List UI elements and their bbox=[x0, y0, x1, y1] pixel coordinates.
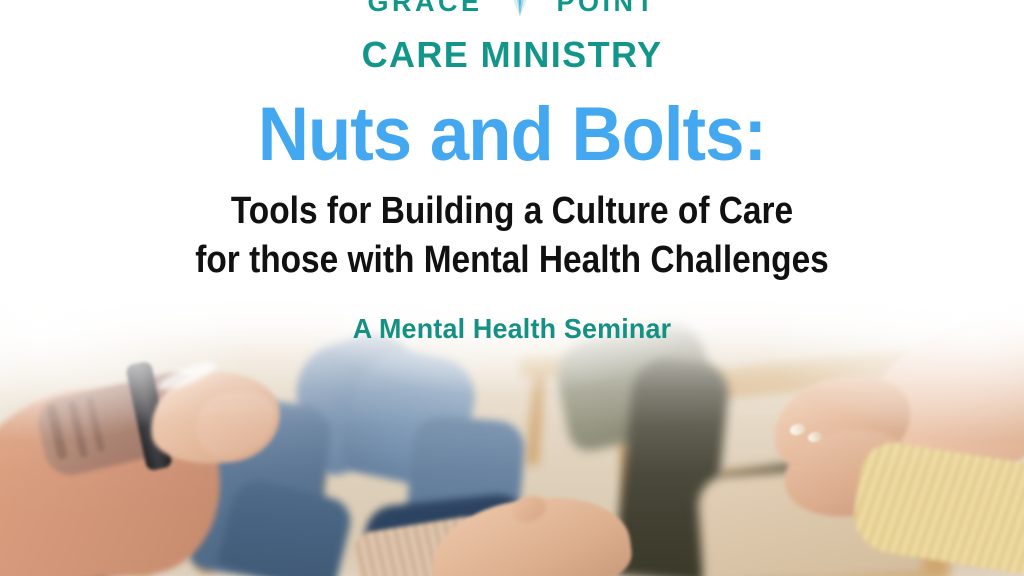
subtitle-line-2: for those with Mental Health Challenges bbox=[61, 240, 962, 281]
promo-graphic-canvas: GRACE POINT CARE MINISTRY Nuts and Bolts… bbox=[0, 0, 1024, 576]
text-layer: GRACE POINT CARE MINISTRY Nuts and Bolts… bbox=[0, 0, 1024, 576]
event-kicker: A Mental Health Seminar bbox=[20, 315, 1003, 343]
department-label: CARE MINISTRY bbox=[0, 37, 1024, 73]
flame-leaf-icon bbox=[497, 0, 543, 18]
logo-word-grace: GRACE bbox=[367, 0, 482, 16]
logo-word-point: POINT bbox=[557, 0, 657, 16]
subtitle-line-1: Tools for Building a Culture of Care bbox=[61, 191, 962, 232]
page-title: Nuts and Bolts: bbox=[36, 96, 988, 174]
brand-logo: GRACE POINT bbox=[0, 0, 1024, 18]
